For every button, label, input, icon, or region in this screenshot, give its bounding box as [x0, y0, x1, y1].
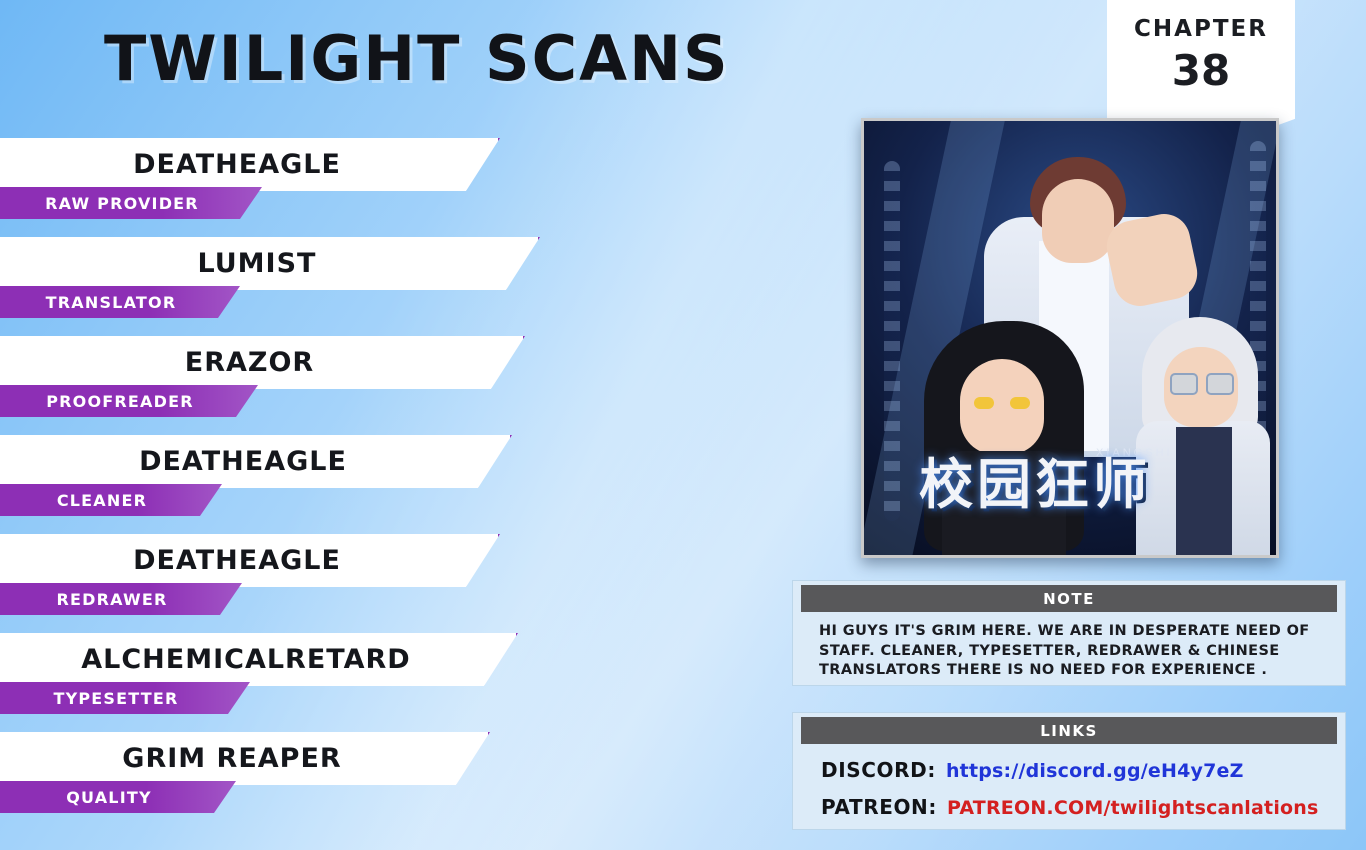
- credit-name: LUMIST: [198, 248, 317, 279]
- credit-row: DEATHEAGLECLEANER: [0, 435, 540, 534]
- character-face: [1042, 179, 1114, 263]
- credit-row: DEATHEAGLEREDRAWER: [0, 534, 540, 633]
- credit-name-bar: ALCHEMICALRETARD: [0, 633, 518, 686]
- cover-artwork: XIANGSHI 校园狂师: [864, 121, 1276, 555]
- link-row: DISCORD:https://discord.gg/eH4y7eZ: [821, 758, 1317, 782]
- credit-role-bar: PROOFREADER: [0, 385, 258, 417]
- link-row: PATREON:PATREON.COM/twilightscanlations: [821, 795, 1317, 819]
- credit-role-bar: QUALITY: [0, 781, 236, 813]
- credit-row: LUMISTTRANSLATOR: [0, 237, 540, 336]
- character-vest: [1176, 427, 1232, 558]
- credit-role-bar: RAW PROVIDER: [0, 187, 262, 219]
- credit-role-bar: REDRAWER: [0, 583, 242, 615]
- links-body: DISCORD:https://discord.gg/eH4y7eZPATREO…: [793, 744, 1345, 819]
- credit-name: GRIM REAPER: [122, 743, 341, 774]
- link-label: PATREON:: [821, 795, 937, 819]
- character-eye: [974, 397, 994, 409]
- chapter-label: CHAPTER: [1113, 16, 1289, 42]
- credit-name-bar: GRIM REAPER: [0, 732, 490, 785]
- credits-list: DEATHEAGLERAW PROVIDERLUMISTTRANSLATORER…: [0, 138, 540, 831]
- credit-row: GRIM REAPERQUALITY: [0, 732, 540, 831]
- credit-name-bar: ERAZOR: [0, 336, 525, 389]
- credit-role: CLEANER: [57, 491, 147, 510]
- link-label: DISCORD:: [821, 758, 936, 782]
- credit-row: ALCHEMICALRETARDTYPESETTER: [0, 633, 540, 732]
- note-body: HI GUYS IT'S GRIM HERE. WE ARE IN DESPER…: [793, 612, 1345, 689]
- credit-role-bar: CLEANER: [0, 484, 222, 516]
- note-header: NOTE: [801, 585, 1337, 612]
- chapter-number: 38: [1113, 46, 1289, 95]
- page-title: TWILIGHT SCANS: [104, 22, 730, 95]
- credit-name-bar: DEATHEAGLE: [0, 435, 512, 488]
- credit-row: ERAZORPROOFREADER: [0, 336, 540, 435]
- credit-name-bar: LUMIST: [0, 237, 540, 290]
- links-header: LINKS: [801, 717, 1337, 744]
- credit-name: DEATHEAGLE: [139, 446, 347, 477]
- credit-role-bar: TRANSLATOR: [0, 286, 240, 318]
- credit-role: PROOFREADER: [46, 392, 194, 411]
- chain-decoration: [884, 161, 900, 521]
- character-eye: [1010, 397, 1030, 409]
- links-panel: LINKS DISCORD:https://discord.gg/eH4y7eZ…: [792, 712, 1346, 830]
- credit-name: ALCHEMICALRETARD: [81, 644, 410, 675]
- credit-row: DEATHEAGLERAW PROVIDER: [0, 138, 540, 237]
- credit-name-bar: DEATHEAGLE: [0, 138, 500, 191]
- credit-role: REDRAWER: [56, 590, 167, 609]
- credit-role: QUALITY: [66, 788, 152, 807]
- credit-role-bar: TYPESETTER: [0, 682, 250, 714]
- glasses-lens: [1206, 373, 1234, 395]
- discord-link[interactable]: https://discord.gg/eH4y7eZ: [946, 760, 1244, 782]
- glasses-lens: [1170, 373, 1198, 395]
- credit-name: DEATHEAGLE: [133, 545, 341, 576]
- credit-role: TRANSLATOR: [46, 293, 177, 312]
- credit-role: RAW PROVIDER: [45, 194, 199, 213]
- credit-role: TYPESETTER: [53, 689, 178, 708]
- patreon-link[interactable]: PATREON.COM/twilightscanlations: [947, 797, 1319, 819]
- cover-title-cn: 校园狂师: [919, 440, 1151, 519]
- cover-image: XIANGSHI 校园狂师: [861, 118, 1279, 558]
- credit-name-bar: DEATHEAGLE: [0, 534, 500, 587]
- note-panel: NOTE HI GUYS IT'S GRIM HERE. WE ARE IN D…: [792, 580, 1346, 686]
- credit-name: DEATHEAGLE: [133, 149, 341, 180]
- credit-name: ERAZOR: [185, 347, 314, 378]
